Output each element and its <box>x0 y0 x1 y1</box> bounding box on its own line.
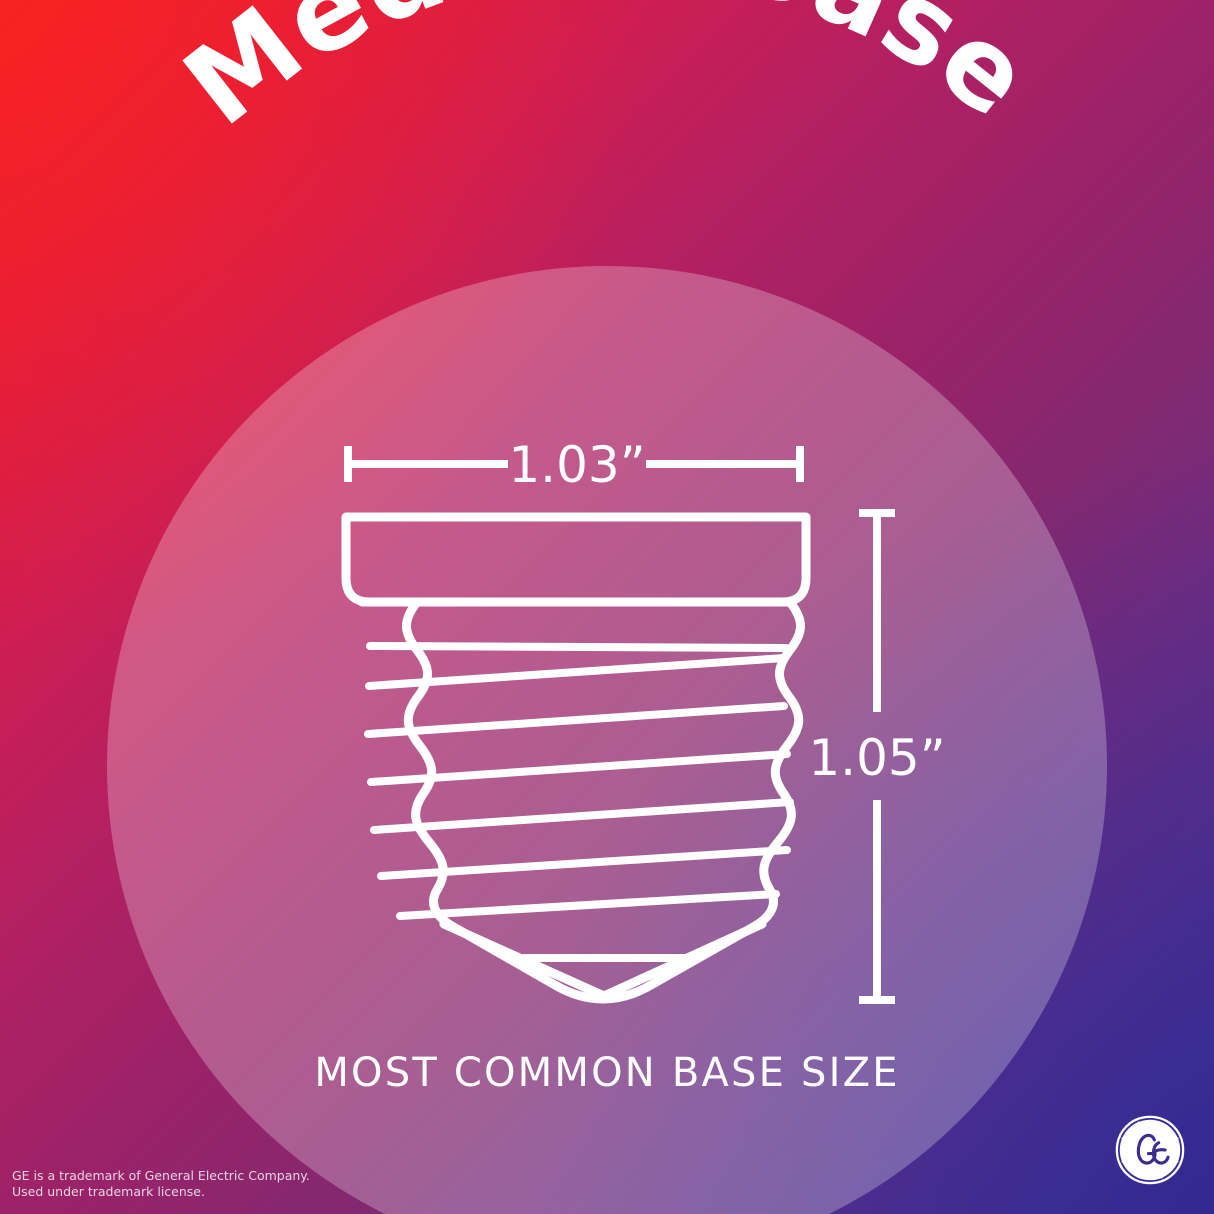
legal-notice: GE is a trademark of General Electric Co… <box>12 1168 310 1200</box>
width-dimension: 1.03” <box>348 436 800 494</box>
legal-line-1: GE is a trademark of General Electric Co… <box>12 1168 310 1184</box>
ge-logo-icon <box>1114 1114 1186 1186</box>
height-dimension-label: 1.05” <box>808 729 945 787</box>
base-tip <box>444 924 762 996</box>
caption-text: MOST COMMON BASE SIZE <box>0 1050 1214 1096</box>
legal-line-2: Used under trademark license. <box>12 1184 310 1200</box>
thread-line-5 <box>374 802 790 830</box>
base-collar <box>346 517 806 602</box>
bulb-base-diagram: 1.03” 1.05” <box>0 0 1214 1214</box>
height-dimension: 1.05” <box>808 513 945 1000</box>
thread-line-7 <box>400 894 776 916</box>
thread-line-1 <box>370 646 786 648</box>
thread-lines <box>368 646 790 916</box>
width-dimension-label: 1.03” <box>508 436 645 494</box>
infographic-canvas: Medium Base 1.03” 1.05” <box>0 0 1214 1214</box>
thread-line-3 <box>368 706 784 734</box>
